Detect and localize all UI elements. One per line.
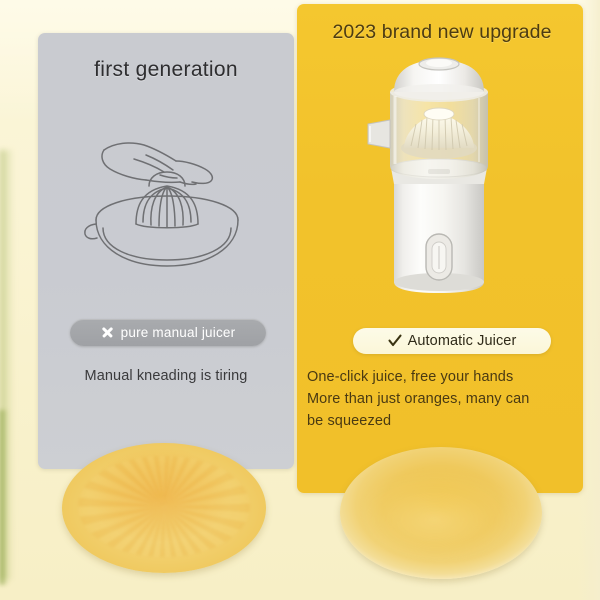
upgrade-title: 2023 brand new upgrade	[303, 21, 581, 44]
feature-line-3: be squeezed	[307, 410, 579, 432]
check-mark-icon	[388, 334, 402, 348]
background-green-streak-lower	[0, 410, 9, 585]
first-generation-title: first generation	[38, 58, 294, 82]
squeezed-citrus-half-left	[62, 443, 266, 573]
automatic-juicer-badge: Automatic Juicer	[353, 328, 551, 354]
automatic-juicer-product-image	[364, 56, 514, 294]
x-mark-icon	[101, 326, 114, 339]
squeezed-citrus-half-right	[340, 447, 542, 579]
feature-line-1: One-click juice, free your hands	[307, 366, 579, 388]
product-comparison-poster: first generation	[0, 0, 600, 600]
manual-juicer-badge-label: pure manual juicer	[121, 325, 236, 340]
manual-kneading-caption: Manual kneading is tiring	[38, 368, 294, 384]
manual-juicer-badge: pure manual juicer	[70, 319, 266, 346]
hand-pressing-reamer-icon	[72, 128, 262, 278]
automatic-juicer-badge-label: Automatic Juicer	[408, 333, 517, 349]
feature-line-2: More than just oranges, many can	[307, 388, 579, 410]
upgrade-feature-text: One-click juice, free your hands More th…	[307, 366, 579, 432]
